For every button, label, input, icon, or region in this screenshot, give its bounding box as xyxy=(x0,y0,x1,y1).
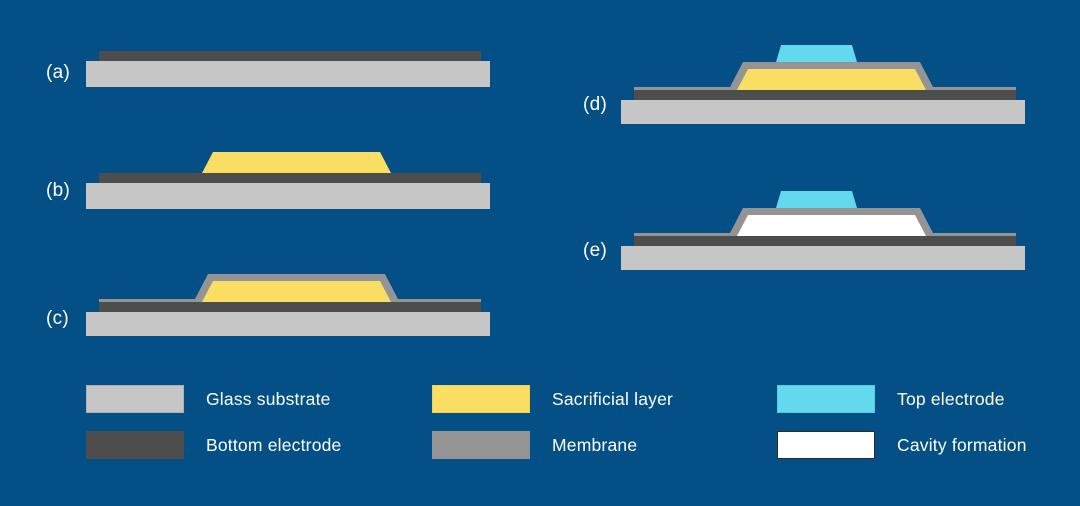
sacrificial-layer-shape xyxy=(202,281,391,302)
figure-canvas: (a) (b) (c) (d) xyxy=(0,0,1080,506)
glass-substrate-layer xyxy=(86,312,490,336)
legend: Glass substrate Bottom electrode Sacrifi… xyxy=(0,376,1080,486)
glass-substrate-layer xyxy=(621,246,1025,270)
panel-label-d: (d) xyxy=(583,94,607,116)
panel-label-b: (b) xyxy=(46,180,70,202)
legend-label-sacrificial-layer: Sacrificial layer xyxy=(552,389,673,410)
legend-label-cavity-formation: Cavity formation xyxy=(897,435,1027,456)
glass-substrate-layer xyxy=(621,100,1025,124)
bottom-electrode-layer xyxy=(634,236,1016,246)
legend-label-glass-substrate: Glass substrate xyxy=(206,389,331,410)
legend-item-sacrificial-layer: Sacrificial layer xyxy=(432,376,673,422)
top-electrode-shape xyxy=(776,191,857,208)
panel-d-diagram xyxy=(615,38,1035,124)
legend-item-top-electrode: Top electrode xyxy=(777,376,1027,422)
legend-swatch-sacrificial-layer xyxy=(432,385,530,413)
legend-swatch-membrane xyxy=(432,431,530,459)
legend-column-2: Sacrificial layer Membrane xyxy=(432,376,673,468)
legend-label-top-electrode: Top electrode xyxy=(897,389,1005,410)
glass-substrate-layer xyxy=(86,183,490,209)
panel-b-diagram xyxy=(80,148,500,210)
legend-item-membrane: Membrane xyxy=(432,422,673,468)
top-electrode-shape xyxy=(776,45,857,62)
legend-label-bottom-electrode: Bottom electrode xyxy=(206,435,342,456)
legend-item-glass-substrate: Glass substrate xyxy=(86,376,342,422)
panel-e-diagram xyxy=(615,184,1035,270)
legend-swatch-cavity-formation xyxy=(777,431,875,459)
legend-column-3: Top electrode Cavity formation xyxy=(777,376,1027,468)
legend-swatch-top-electrode xyxy=(777,385,875,413)
sacrificial-layer-shape xyxy=(737,69,926,90)
glass-substrate-layer xyxy=(86,61,490,87)
legend-swatch-bottom-electrode xyxy=(86,431,184,459)
sacrificial-layer-shape xyxy=(202,152,391,173)
bottom-electrode-layer xyxy=(99,51,481,61)
legend-item-cavity-formation: Cavity formation xyxy=(777,422,1027,468)
panel-c-diagram xyxy=(80,262,500,336)
legend-column-1: Glass substrate Bottom electrode xyxy=(86,376,342,468)
panel-label-a: (a) xyxy=(46,62,70,84)
panel-a-diagram xyxy=(80,40,500,100)
legend-label-membrane: Membrane xyxy=(552,435,637,456)
panel-label-c: (c) xyxy=(46,308,69,330)
bottom-electrode-layer xyxy=(99,173,481,183)
legend-swatch-glass-substrate xyxy=(86,385,184,413)
legend-item-bottom-electrode: Bottom electrode xyxy=(86,422,342,468)
bottom-electrode-layer xyxy=(99,302,481,312)
cavity-formation-shape xyxy=(737,215,926,236)
panel-label-e: (e) xyxy=(583,240,607,262)
bottom-electrode-layer xyxy=(634,90,1016,100)
